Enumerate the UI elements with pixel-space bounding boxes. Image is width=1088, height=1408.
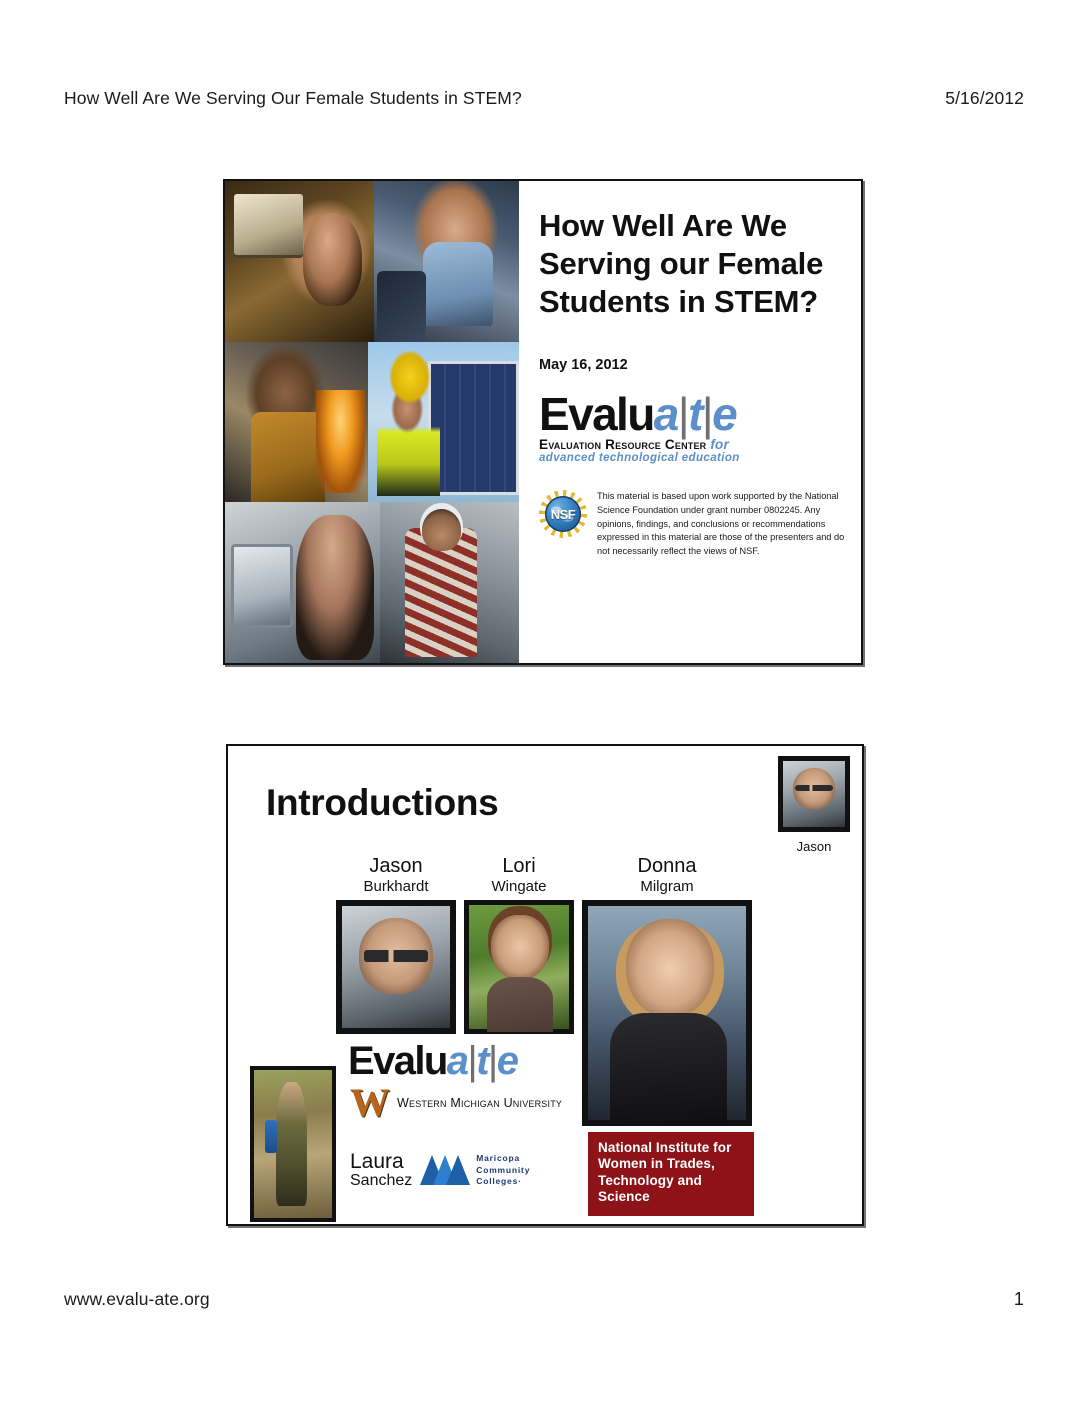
slide1-title: How Well Are We Serving our Female Stude… [539,207,845,321]
collage-photo-woman-at-computer-lab [225,181,374,342]
jason-thumbnail-frame [778,756,850,832]
presenter-first-name: Jason [336,856,456,878]
header-title: How Well Are We Serving Our Female Stude… [64,88,522,109]
evaluate-logo-a: a [654,388,678,440]
nsf-funding-block: NSF This material is based upon work sup… [539,490,845,558]
evaluate-logo: Evalua|t|e Evaluation Resource Center fo… [539,391,845,464]
evaluate-logo-a: a [447,1039,468,1083]
laura-last-name: Sanchez [350,1173,412,1190]
presenter-photo-frame [464,900,574,1034]
evaluate-logo-bar-2: | [488,1039,497,1083]
document-page: How Well Are We Serving Our Female Stude… [0,0,1088,1408]
evaluate-logo-bar-2: | [702,388,712,440]
evaluate-logo-tagline-for: for [710,437,729,452]
collage-photo-woman-field-technician [380,502,519,663]
collage-photo-woman-welder [225,342,368,503]
evaluate-logo-t: t [476,1039,488,1083]
jason-thumbnail: Jason [778,756,850,854]
running-footer: www.evalu-ate.org 1 [64,1289,1024,1310]
maricopa-chevron-c [446,1155,470,1185]
evaluate-logo-evalu: Evalu [539,388,654,440]
footer-page-number: 1 [1014,1289,1024,1310]
nsf-disclaimer-text: This material is based upon work support… [597,490,845,558]
nsf-icon: NSF [539,490,587,538]
presenter-last-name: Milgram [582,878,752,896]
maricopa-line-1: Maricopa [476,1153,530,1165]
laura-sanchez-block: Laura Sanchez Maricopa Community College… [350,1151,530,1190]
niwtts-logo: National Institute for Women in Trades, … [588,1132,754,1216]
presenter-first-name: Lori [464,856,574,878]
collage-photo-woman-in-machine-shop [374,181,519,342]
laura-sanchez-photo-frame [250,1066,336,1226]
evaluate-logo-tagline-sub: advanced technological education [539,453,845,465]
presenter-donna-milgram: Donna Milgram [582,856,752,1131]
wmu-name: Western Michigan University [397,1096,562,1110]
presenter-first-name: Donna [582,856,752,878]
nsf-logo-label: NSF [539,490,587,538]
collage-photo-woman-with-solar-panel [368,342,519,503]
laura-photo-frame [250,1066,336,1222]
maricopa-line-2: Community [476,1165,530,1177]
evaluate-logo-e: e [712,388,736,440]
lori-wingate-photo [469,905,569,1029]
western-michigan-university-logo: W Western Michigan University [350,1086,562,1120]
running-header: How Well Are We Serving Our Female Stude… [64,88,1024,109]
presenter-lori-wingate: Lori Wingate [464,856,574,1039]
photo-collage [225,181,519,663]
footer-url[interactable]: www.evalu-ate.org [64,1289,210,1310]
maricopa-line-3: Colleges· [476,1176,530,1188]
laura-sanchez-photo [254,1070,332,1218]
header-date: 5/16/2012 [945,88,1024,109]
evaluate-logo-e: e [497,1039,518,1083]
presenter-jason-burkhardt: Jason Burkhardt [336,856,456,1039]
presenter-photo-frame [582,900,752,1126]
maricopa-chevron-icon [420,1155,470,1185]
maricopa-community-colleges-logo: Maricopa Community Colleges· [420,1153,530,1188]
jason-thumbnail-caption: Jason [778,840,850,854]
presenter-last-name: Wingate [464,878,574,896]
slide-title[interactable]: How Well Are We Serving our Female Stude… [223,179,863,665]
laura-first-name: Laura [350,1151,412,1173]
evaluate-logo-bar-1: | [678,388,688,440]
slide1-date: May 16, 2012 [539,357,845,373]
collage-photo-woman-at-electronics-bench [225,502,380,663]
evaluate-logo: Evalua|t|e [348,1041,517,1081]
donna-milgram-photo [588,906,746,1120]
wmu-w-mark: W [350,1086,390,1120]
evaluate-logo-t: t [688,388,702,440]
jason-burkhardt-photo [342,906,450,1028]
evaluate-logo-tagline-main: Evaluation Resource Center [539,437,706,452]
slide2-title: Introductions [266,782,498,824]
slide-introductions[interactable]: Introductions Jason Jason Burkhardt [226,744,864,1226]
presenter-last-name: Burkhardt [336,878,456,896]
jason-thumbnail-photo [783,761,845,827]
presenter-photo-frame [336,900,456,1034]
evaluate-logo-bar-1: | [467,1039,476,1083]
evaluate-logo-evalu: Evalu [348,1039,447,1083]
